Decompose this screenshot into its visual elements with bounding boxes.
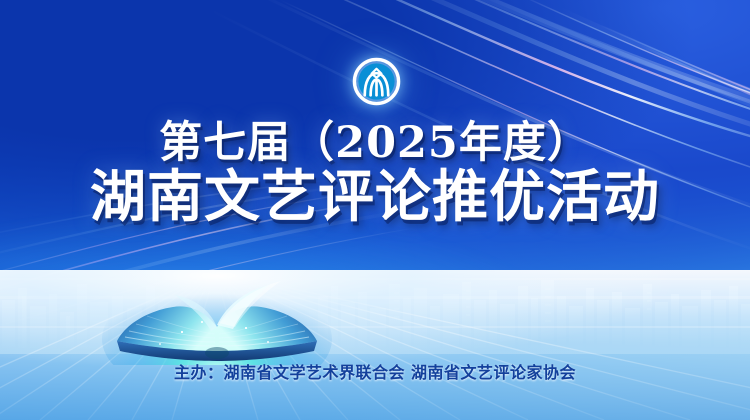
poster-canvas: 第七届（2025年度） 湖南文艺评论推优活动 主办：湖南省文学艺术界联合会 湖南…: [0, 0, 750, 420]
page-title-line1: 第七届（2025年度）: [0, 118, 750, 168]
page-title-line2: 湖南文艺评论推优活动: [0, 166, 750, 228]
title-block: 第七届（2025年度） 湖南文艺评论推优活动: [0, 118, 750, 228]
hunan-federation-emblem-icon: [352, 57, 401, 106]
organizer-text: 主办：湖南省文学艺术界联合会 湖南省文艺评论家协会: [0, 359, 750, 383]
open-book-icon: [95, 265, 340, 365]
